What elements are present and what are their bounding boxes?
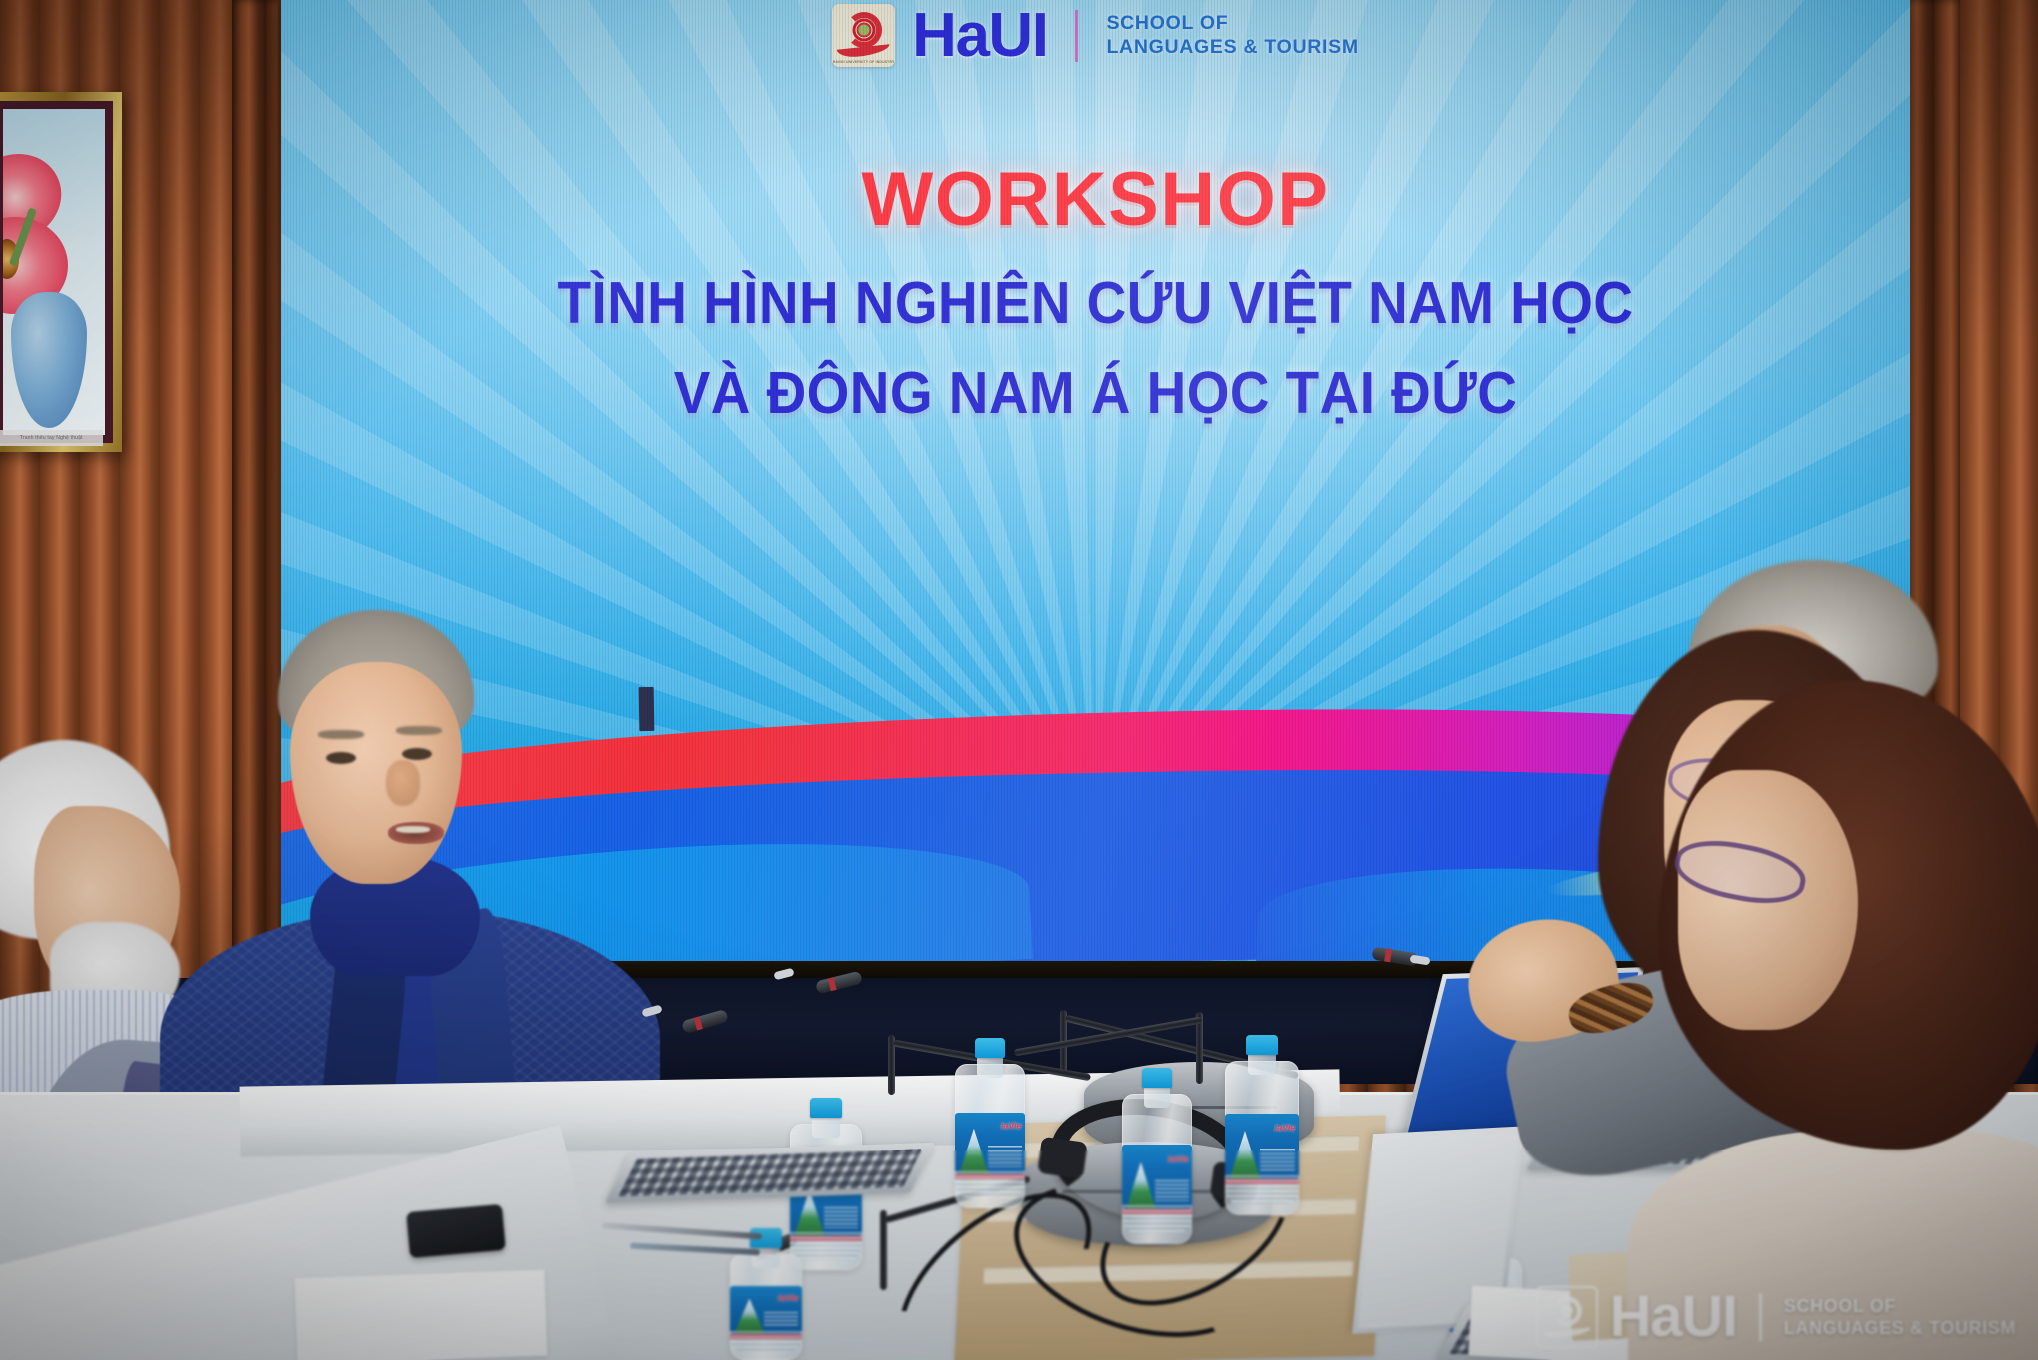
haui-emblem-icon: HANOI UNIVERSITY OF INDUSTRY xyxy=(832,4,895,67)
workshop-title-line1: TÌNH HÌNH NGHIÊN CỨU VIỆT NAM HỌC xyxy=(338,269,1853,337)
water-bottle-4[interactable]: laVie xyxy=(1225,1035,1299,1215)
emblem-gear-icon xyxy=(858,25,869,36)
watermark-subtitle: SCHOOL OF LANGUAGES & TOURISM xyxy=(1784,1295,2016,1340)
water-bottle-2[interactable]: laVie xyxy=(955,1038,1025,1208)
emblem-caption: HANOI UNIVERSITY OF INDUSTRY xyxy=(832,60,895,64)
school-subtitle-line1: SCHOOL OF xyxy=(1106,12,1358,36)
paper-sheet-left[interactable] xyxy=(295,1270,548,1360)
brow-left xyxy=(318,730,364,739)
laptop-left[interactable] xyxy=(620,1068,950,1198)
picture-plaque: Tranh thêu tay Nghệ thuật xyxy=(0,430,103,446)
photo-scene: Tranh thêu tay Nghệ thuật HANOI UNIVERSI… xyxy=(0,0,2038,1360)
picture-artwork xyxy=(3,109,105,435)
haui-watermark: HaUI SCHOOL OF LANGUAGES & TOURISM xyxy=(1536,1286,2016,1348)
slide-headline: WORKSHOP TÌNH HÌNH NGHIÊN CỨU VIỆT NAM H… xyxy=(281,156,1910,427)
eye-left xyxy=(326,752,356,764)
face xyxy=(290,662,462,884)
headphone-earcup-left xyxy=(1037,1137,1088,1179)
participant-woman-foreground xyxy=(1668,840,2038,1360)
laptop-keyboard[interactable] xyxy=(605,1143,935,1203)
brow-right xyxy=(396,726,442,735)
school-subtitle-line2: LANGUAGES & TOURISM xyxy=(1106,36,1358,60)
watermark-divider xyxy=(1759,1293,1762,1341)
vase xyxy=(11,292,86,429)
workshop-title-line2: VÀ ĐÔNG NAM Á HỌC TẠI ĐỨC xyxy=(338,359,1853,427)
eye-right xyxy=(402,748,432,760)
watermark-subtitle-line1: SCHOOL OF xyxy=(1784,1295,2016,1318)
watermark-subtitle-line2: LANGUAGES & TOURISM xyxy=(1784,1317,2016,1340)
watermark-wordmark: HaUI xyxy=(1610,1291,1737,1343)
smartphone[interactable] xyxy=(406,1204,506,1258)
school-subtitle: SCHOOL OF LANGUAGES & TOURISM xyxy=(1106,12,1358,60)
logo-divider xyxy=(1075,10,1078,62)
nose xyxy=(386,760,420,806)
haui-wordmark: HaUI xyxy=(912,7,1047,64)
watermark-emblem-icon xyxy=(1536,1286,1598,1348)
workshop-kicker: WORKSHOP xyxy=(281,156,1910,243)
framed-floral-painting: Tranh thêu tay Nghệ thuật xyxy=(0,92,122,452)
emblem-swoosh xyxy=(837,44,891,58)
water-bottle-3[interactable]: laVie xyxy=(1122,1068,1192,1244)
mouth-speaking xyxy=(388,822,444,844)
slide-logo-bar: HANOI UNIVERSITY OF INDUSTRY HaUI SCHOOL… xyxy=(281,4,1910,67)
